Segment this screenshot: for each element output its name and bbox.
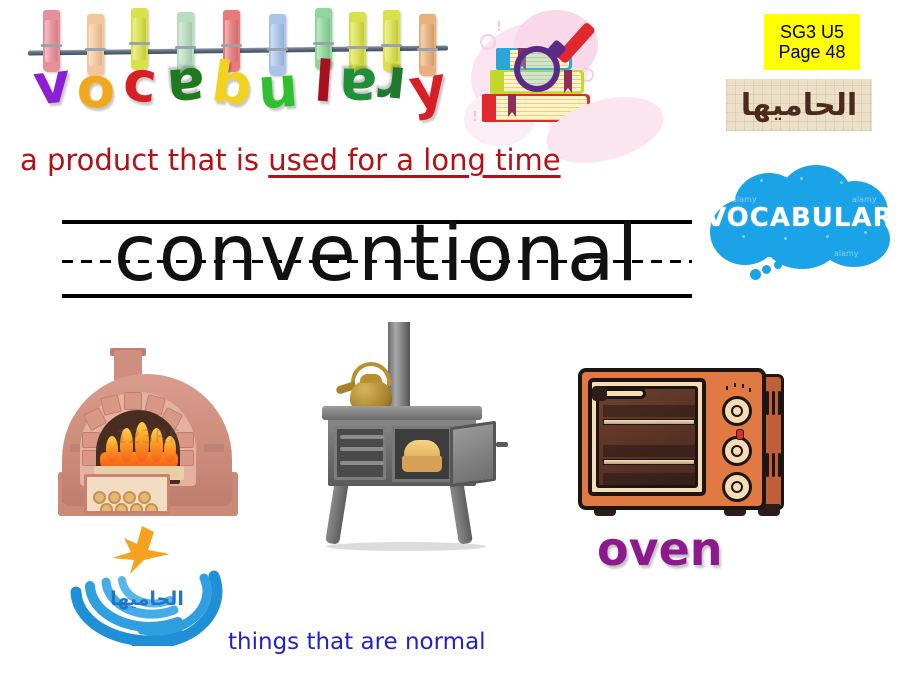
cloud-speck — [800, 177, 803, 180]
firewood-log — [93, 491, 106, 504]
letter-glyph: a — [164, 55, 208, 120]
clothespin-spring-icon — [85, 48, 106, 51]
logo-arabic-text: الحاميها — [62, 588, 232, 610]
vocabulary-thought-cloud: alamy alamy alamy VOCABULARY — [706, 165, 892, 287]
rack-shadow — [603, 473, 695, 485]
watermark-text: 123RF — [68, 426, 228, 448]
cloud-speck — [760, 179, 763, 182]
clothespin-spring-icon — [175, 46, 196, 49]
cloud-speck — [826, 235, 829, 238]
stove-cooktop — [322, 406, 482, 420]
letter-glyph: o — [74, 57, 117, 121]
letter-glyph: u — [256, 57, 300, 122]
vent-slot — [766, 453, 769, 477]
bread-pan — [402, 456, 442, 472]
firebox-bar — [340, 461, 384, 465]
firewood-log — [138, 491, 151, 504]
vent-slot — [778, 391, 781, 415]
stove-open-door — [450, 421, 496, 487]
cloud-tail-dot — [750, 269, 761, 280]
peg-letter-3: c — [120, 8, 160, 123]
firewood-compartment — [84, 474, 170, 514]
vocabulary-slide: v o c a b u l — [0, 0, 906, 682]
arabic-brand-label: الحاميها — [726, 79, 872, 131]
definition-underlined: used for a long time — [268, 143, 560, 177]
arabic-brand-text: الحاميها — [741, 88, 857, 123]
stove-door-handle — [496, 442, 508, 447]
bookmark-icon — [564, 70, 572, 88]
vocabulary-cloud-label: VOCABULARY — [706, 203, 892, 233]
cloud-speck — [840, 181, 843, 184]
arch-brick — [124, 392, 142, 410]
page-badge-line1: SG3 U5 — [780, 22, 844, 42]
dial-tick — [734, 383, 736, 387]
stove-firebox-door — [334, 426, 386, 480]
stove-leg — [325, 479, 349, 544]
oven-word-label: oven — [597, 522, 723, 576]
peg-letter-4: a — [166, 12, 206, 127]
peg-letter-5: b — [212, 10, 252, 125]
cloud-speck — [742, 235, 745, 238]
practice-word: conventional — [62, 209, 692, 299]
timer-knob[interactable] — [722, 472, 752, 502]
letter-glyph: v — [29, 52, 75, 118]
cloud-tail-dot — [762, 265, 771, 274]
clothespin-spring-icon — [381, 44, 402, 47]
kettle-lid — [360, 374, 382, 383]
firewood-log — [130, 503, 143, 514]
toaster-oven-illustration — [572, 362, 790, 530]
firewood-log — [100, 503, 113, 514]
vent-slot — [772, 391, 775, 415]
cloud-tail-dot — [774, 261, 782, 269]
cloud-speck — [864, 231, 867, 234]
temperature-knob[interactable] — [722, 396, 752, 426]
handwriting-practice-block: conventional — [62, 215, 692, 305]
hanging-vocabulary-word: v o c a b u l — [28, 8, 448, 123]
toaster-handle-knob[interactable] — [592, 386, 607, 401]
stove-leg — [449, 479, 473, 544]
firewood-log — [115, 503, 128, 514]
function-knob[interactable] — [722, 436, 752, 466]
clothespin-spring-icon — [347, 46, 368, 49]
peg-letter-2: o — [76, 14, 116, 129]
toaster-glass-window — [596, 386, 698, 488]
decorative-ring — [480, 34, 496, 50]
page-reference-badge: SG3 U5 Page 48 — [764, 14, 860, 70]
rack-shadow — [603, 405, 695, 417]
magnifier-lens-icon — [514, 46, 560, 92]
dial-tick — [749, 388, 751, 392]
clothespin-spring-icon — [313, 42, 334, 45]
oven-rack — [603, 419, 695, 425]
bookmark-icon — [508, 94, 516, 112]
vent-slot — [772, 453, 775, 477]
peg-letter-6: u — [258, 14, 298, 129]
sparkle-icon: ! — [496, 20, 502, 35]
brand-logo: الحاميها — [62, 522, 232, 646]
letter-glyph: b — [208, 52, 256, 119]
clothespin-spring-icon — [129, 42, 150, 45]
peg-letter-1: v — [32, 10, 72, 125]
vent-slot — [766, 391, 769, 415]
dial-tick — [726, 386, 728, 390]
watermark-text: alamy — [852, 195, 877, 204]
watermark-text: alamy — [834, 249, 859, 258]
cloud-speck — [784, 237, 787, 240]
definition-plain: a product that is — [20, 143, 268, 177]
clothespin-spring-icon — [221, 44, 242, 47]
firewood-log — [123, 491, 136, 504]
clothespin-spring-icon — [417, 48, 438, 51]
firebox-bar — [340, 435, 384, 439]
cast-iron-stove-illustration — [300, 322, 532, 558]
clay-brick-oven-illustration: 123RF — [58, 348, 238, 516]
firewood-log — [145, 503, 158, 514]
secondary-definition-sentence: things that are normal — [228, 629, 486, 655]
letter-glyph: y — [404, 56, 452, 123]
page-badge-line2: Page 48 — [778, 42, 845, 62]
definition-sentence: a product that is used for a long time — [20, 143, 561, 177]
power-indicator-light — [736, 429, 744, 440]
dial-tick — [742, 384, 744, 388]
oven-rack — [603, 459, 695, 465]
rack-shadow — [603, 445, 695, 457]
firewood-log — [108, 491, 121, 504]
vent-slot — [778, 453, 781, 477]
clothespin-spring-icon — [267, 48, 288, 51]
bread-loaf-icon — [402, 440, 442, 472]
firebox-bar — [340, 447, 384, 451]
peg-letter-10: y — [408, 14, 448, 129]
brass-kettle-icon — [336, 362, 400, 412]
sparkle-icon: ! — [472, 110, 478, 125]
clothespin-spring-icon — [41, 44, 62, 47]
letter-glyph: c — [117, 50, 163, 116]
watermark-text: alamy — [732, 195, 757, 204]
